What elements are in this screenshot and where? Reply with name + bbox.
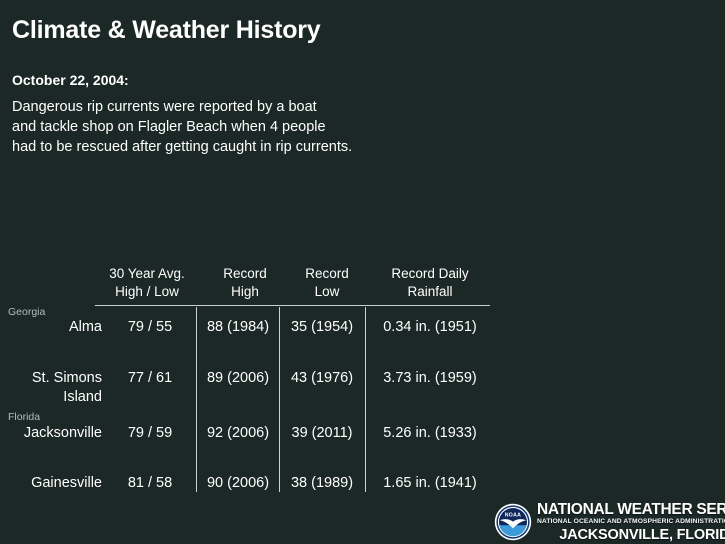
nws-office-location: JACKSONVILLE, FLORIDA xyxy=(537,528,725,543)
table-header-row: 30 Year Avg. High / Low Record High Reco… xyxy=(0,265,500,305)
page-title: Climate & Weather History xyxy=(12,16,321,45)
event-description-line: Dangerous rip currents were reported by … xyxy=(12,97,492,117)
cell-record-low: 35 (1954) xyxy=(283,318,361,337)
cell-record-low: 43 (1976) xyxy=(283,369,361,388)
cell-record-high: 89 (2006) xyxy=(200,369,276,388)
event-description-line: had to be rescued after getting caught i… xyxy=(12,137,492,157)
nws-logo-block: NOAA NATIONAL WEATHER SERVICE NATIONAL O… xyxy=(492,500,725,544)
cell-city: Gainesville xyxy=(0,474,102,493)
state-group-label-florida: Florida xyxy=(8,411,40,423)
column-header-record-daily-rainfall: Record Daily Rainfall xyxy=(368,265,492,301)
nws-logo-text: NATIONAL WEATHER SERVICE NATIONAL OCEANI… xyxy=(537,502,725,543)
table-header-divider xyxy=(95,305,490,306)
cell-record-high: 92 (2006) xyxy=(200,424,276,443)
column-header-record-low: Record Low xyxy=(288,265,366,301)
cell-city: Jacksonville xyxy=(0,424,102,443)
cell-avg-high-low: 79 / 55 xyxy=(112,318,188,337)
weather-graphic: Climate & Weather History October 22, 20… xyxy=(0,0,725,544)
cell-record-low: 38 (1989) xyxy=(283,474,361,493)
table-column-divider xyxy=(279,307,280,492)
column-header-record-high: Record High xyxy=(206,265,284,301)
cell-avg-high-low: 79 / 59 xyxy=(112,424,188,443)
noaa-seal-text: NOAA xyxy=(505,513,521,519)
nws-agency-name: NATIONAL WEATHER SERVICE xyxy=(537,502,725,518)
cell-record-high: 88 (1984) xyxy=(200,318,276,337)
climate-records-table: 30 Year Avg. High / Low Record High Reco… xyxy=(0,265,500,305)
cell-city: St. Simons xyxy=(0,369,102,388)
cell-avg-high-low: 81 / 58 xyxy=(112,474,188,493)
cell-city: Alma xyxy=(0,318,102,337)
cell-record-rainfall: 5.26 in. (1933) xyxy=(369,424,491,443)
table-column-divider xyxy=(365,307,366,492)
event-date: October 22, 2004: xyxy=(12,72,129,88)
cell-city-line2: Island xyxy=(0,388,102,407)
cell-record-low: 39 (2011) xyxy=(283,424,361,443)
cell-record-rainfall: 1.65 in. (1941) xyxy=(369,474,491,493)
cell-avg-high-low: 77 / 61 xyxy=(112,369,188,388)
state-group-label-georgia: Georgia xyxy=(8,306,45,318)
cell-record-rainfall: 0.34 in. (1951) xyxy=(369,318,491,337)
noaa-seal-icon: NOAA xyxy=(494,503,532,541)
noaa-agency-name: NATIONAL OCEANIC AND ATMOSPHERIC ADMINIS… xyxy=(537,519,725,526)
event-description-line: and tackle shop on Flagler Beach when 4 … xyxy=(12,117,492,137)
event-description: Dangerous rip currents were reported by … xyxy=(12,97,492,157)
column-header-30-year-avg: 30 Year Avg. High / Low xyxy=(88,265,206,301)
cell-record-high: 90 (2006) xyxy=(200,474,276,493)
cell-record-rainfall: 3.73 in. (1959) xyxy=(369,369,491,388)
table-column-divider xyxy=(196,307,197,492)
content-layer: Climate & Weather History October 22, 20… xyxy=(0,0,725,544)
